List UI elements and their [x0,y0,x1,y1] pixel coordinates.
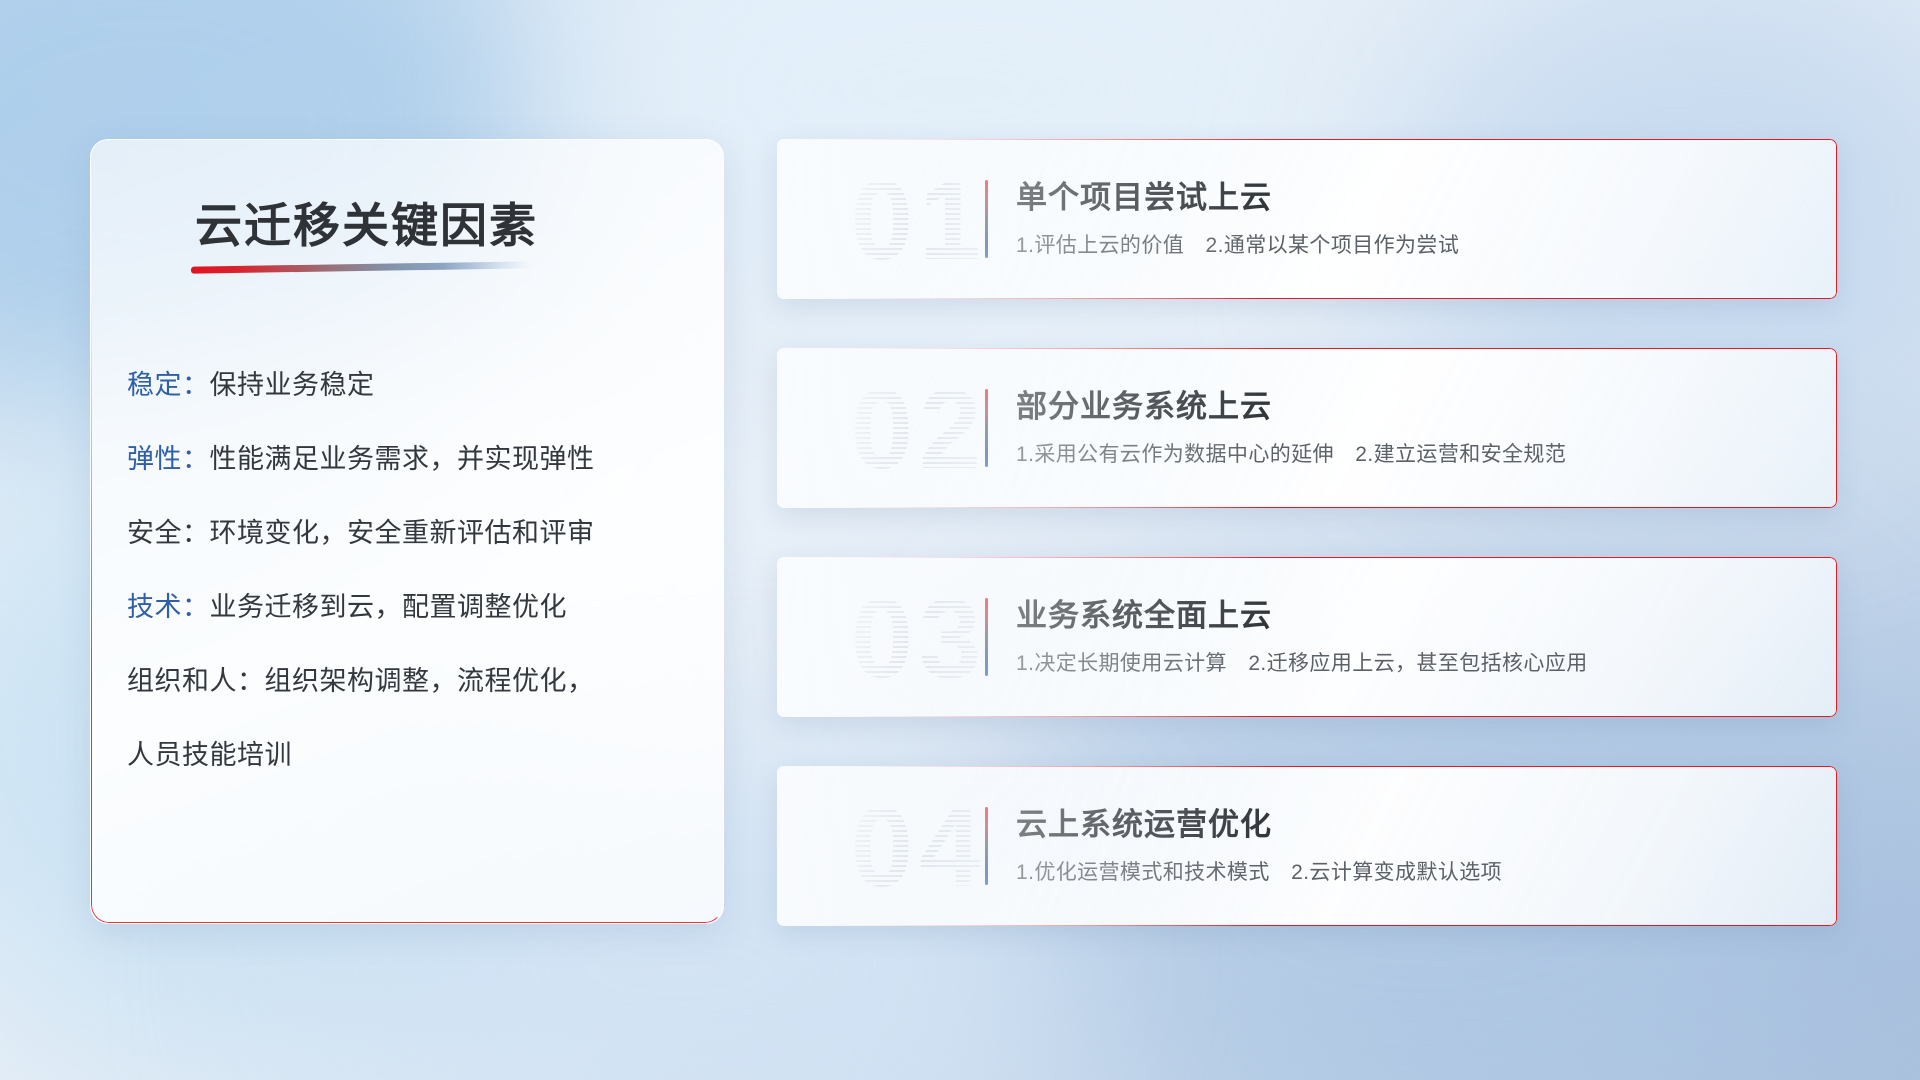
step-subtitle: 1.优化运营模式和技术模式 2.云计算变成默认选项 [1016,856,1502,886]
factor-row: 人员技能培训 [127,718,697,792]
step-number-watermark: 04 [809,780,1029,914]
factor-text: 组织架构调整，流程优化， [265,666,595,696]
factor-text: 人员技能培训 [127,740,292,770]
step-divider [985,180,988,258]
step-card[interactable]: 04 云上系统运营优化 1.优化运营模式和技术模式 2.云计算变成默认选项 [777,766,1837,926]
step-title: 云上系统运营优化 [1016,799,1272,844]
factor-label: 弹性： [127,444,210,474]
step-card[interactable]: 01 单个项目尝试上云 1.评估上云的价值 2.通常以某个项目作为尝试 [777,139,1837,299]
step-subtitle: 1.采用公有云作为数据中心的延伸 2.建立运营和安全规范 [1016,438,1566,468]
factor-text: 环境变化，安全重新评估和评审 [210,518,595,548]
step-divider [985,807,988,885]
factor-row: 组织和人：组织架构调整，流程优化， [127,644,697,718]
step-divider [985,598,988,676]
step-number-watermark: 03 [809,571,1029,705]
slide-canvas: 云迁移关键因素 稳定：保持业务稳定弹性：性能满足业务需求，并实现弹性安全：环境变… [0,0,1920,1080]
factor-row: 稳定：保持业务稳定 [127,348,697,422]
step-title: 单个项目尝试上云 [1016,172,1272,217]
key-factors-panel: 云迁移关键因素 稳定：保持业务稳定弹性：性能满足业务需求，并实现弹性安全：环境变… [90,139,724,924]
step-card[interactable]: 02 部分业务系统上云 1.采用公有云作为数据中心的延伸 2.建立运营和安全规范 [777,348,1837,508]
step-title: 部分业务系统上云 [1016,381,1272,426]
page-title: 云迁移关键因素 [195,187,538,256]
factor-list: 稳定：保持业务稳定弹性：性能满足业务需求，并实现弹性安全：环境变化，安全重新评估… [127,348,697,792]
step-number-watermark: 02 [809,362,1029,496]
step-number-watermark: 01 [809,153,1029,287]
step-title: 业务系统全面上云 [1016,590,1272,635]
factor-row: 安全：环境变化，安全重新评估和评审 [127,496,697,570]
title-underline-rule [191,261,531,273]
factor-label: 安全： [127,518,210,548]
factor-label: 稳定： [127,370,210,400]
step-subtitle: 1.评估上云的价值 2.通常以某个项目作为尝试 [1016,229,1459,259]
factor-text: 性能满足业务需求，并实现弹性 [210,444,595,474]
step-subtitle: 1.决定长期使用云计算 2.迁移应用上云，甚至包括核心应用 [1016,647,1588,677]
step-divider [985,389,988,467]
factor-text: 保持业务稳定 [210,370,375,400]
factor-label: 组织和人： [127,666,265,696]
factor-label: 技术： [127,592,210,622]
factor-text: 业务迁移到云，配置调整优化 [210,592,568,622]
factor-row: 技术：业务迁移到云，配置调整优化 [127,570,697,644]
factor-row: 弹性：性能满足业务需求，并实现弹性 [127,422,697,496]
step-card[interactable]: 03 业务系统全面上云 1.决定长期使用云计算 2.迁移应用上云，甚至包括核心应… [777,557,1837,717]
